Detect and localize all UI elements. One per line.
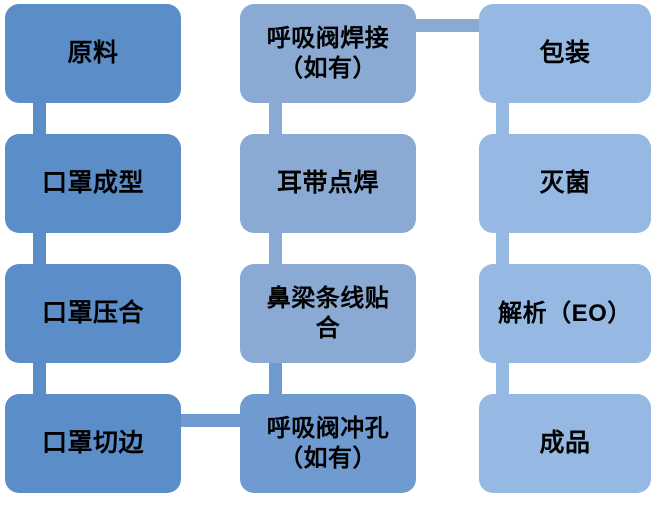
node-valve-punching[interactable]: 呼吸阀冲孔 （如有） <box>240 394 416 493</box>
node-earloop-spot-welding[interactable]: 耳带点焊 <box>240 134 416 233</box>
flowchart-canvas: 原料 口罩成型 口罩压合 口罩切边 呼吸阀焊接 （如有） 耳带点焊 鼻梁条线贴 … <box>0 0 656 510</box>
node-mask-forming[interactable]: 口罩成型 <box>5 134 181 233</box>
node-label: 耳带点焊 <box>248 168 408 199</box>
connector-mask-pressing-to-mask-edge-cutting <box>33 363 46 394</box>
connector-valve-punching-to-nose-bridge-bonding <box>269 363 282 394</box>
node-label: 鼻梁条线贴 合 <box>248 284 408 344</box>
node-label: 灭菌 <box>487 168 643 199</box>
node-desorption-eo[interactable]: 解析（EO） <box>479 264 651 363</box>
connector-packaging-to-sterilization <box>496 103 509 134</box>
node-sterilization[interactable]: 灭菌 <box>479 134 651 233</box>
node-packaging[interactable]: 包装 <box>479 4 651 103</box>
node-raw-material[interactable]: 原料 <box>5 4 181 103</box>
node-label: 原料 <box>13 38 173 69</box>
connector-mask-edge-cutting-to-valve-punching <box>181 414 243 427</box>
connector-desorption-to-finished-product <box>496 363 509 394</box>
node-label: 口罩切边 <box>13 428 173 459</box>
connector-valve-welding-to-packaging <box>416 19 480 32</box>
node-label: 包装 <box>487 38 643 69</box>
connector-nose-bridge-bonding-to-earloop-spot-welding <box>269 233 282 264</box>
node-label: 解析（EO） <box>487 299 643 329</box>
node-finished-product[interactable]: 成品 <box>479 394 651 493</box>
node-mask-edge-cutting[interactable]: 口罩切边 <box>5 394 181 493</box>
node-label: 口罩压合 <box>13 298 173 329</box>
node-label: 口罩成型 <box>13 168 173 199</box>
node-mask-pressing[interactable]: 口罩压合 <box>5 264 181 363</box>
node-valve-welding[interactable]: 呼吸阀焊接 （如有） <box>240 4 416 103</box>
node-nose-bridge-bonding[interactable]: 鼻梁条线贴 合 <box>240 264 416 363</box>
connector-sterilization-to-desorption <box>496 233 509 264</box>
connector-earloop-spot-welding-to-valve-welding <box>269 103 282 134</box>
connector-raw-material-to-mask-forming <box>33 103 46 134</box>
connector-mask-forming-to-mask-pressing <box>33 233 46 264</box>
node-label: 呼吸阀冲孔 （如有） <box>248 414 408 474</box>
node-label: 成品 <box>487 428 643 459</box>
node-label: 呼吸阀焊接 （如有） <box>248 24 408 84</box>
